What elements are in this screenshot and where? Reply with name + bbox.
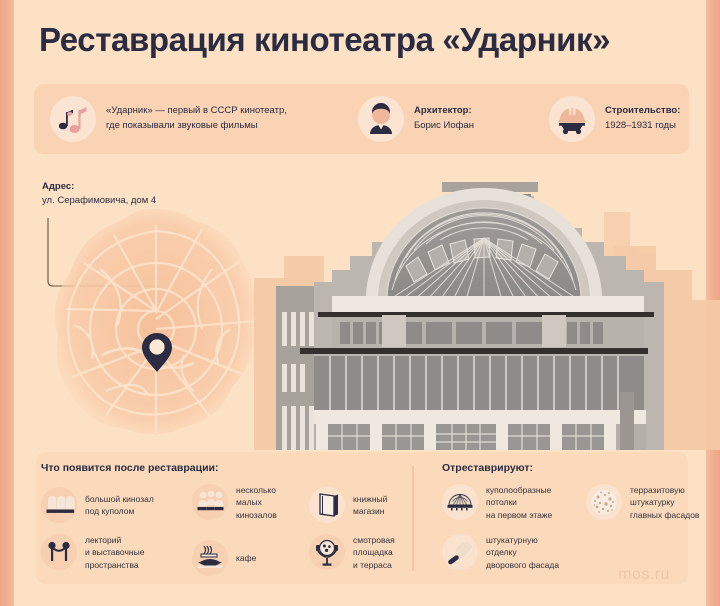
fact-bar: «Ударник» — первый в СССР кинотеатр, где… [34,84,689,154]
section-heading-new-features: Что появится после реставрации: [41,462,219,474]
fact-item-construction: Строительство: 1928–1931 годы [549,95,680,143]
list-item-bookshop: книжный магазин [309,487,387,523]
fact-item-architect: Архитектор: Борис Иофан [358,95,474,143]
terrazzo-icon [586,484,622,520]
udarnik-cinema-illustration [254,160,720,450]
list-item-observation-deck: смотровая площадка и терраса [309,534,395,571]
ground-floor-windows [316,422,616,450]
panel-divider [412,466,414,571]
fact-value-architect: Борис Иофан [414,119,474,134]
fact-label-construction: Строительство: [605,104,680,119]
list-item-label: смотровая площадка и терраса [353,534,395,571]
music-notes-icon [50,96,96,142]
lecture-stand-icon [41,534,77,570]
list-item-terrazzo: терразитовую штукатурку главных фасадов [586,484,699,521]
upper-cornice [332,296,644,314]
fact-text-architect: Архитектор: Борис Иофан [414,104,474,133]
page-title: Реставрация кинотеатра «Ударник» [39,22,689,58]
list-item-label: кафе [236,552,256,564]
list-item-label: лекторий и выставочные пространства [85,534,144,571]
main-cornice [300,348,648,354]
ground-entablature [314,410,646,424]
list-item-label: несколько малых кинозалов [236,484,277,521]
moscow-map [44,205,274,440]
fact-line-1: «Ударник» — первый в СССР кинотеатр, [106,104,287,119]
list-item-dome-ceilings: куполообразные потолки на первом этаже [442,484,552,521]
fact-value-construction: 1928–1931 годы [605,119,680,134]
facade-glazing [314,356,644,410]
list-item-plaster-finish: штукатурную отделку дворового фасада [442,534,559,571]
section-heading-restoration: Отреставрируют: [442,462,533,474]
architect-avatar-icon [358,96,404,142]
list-item-label: большой кинозал под куполом [85,493,154,518]
list-item-lecture-hall: лекторий и выставочные пространства [41,534,144,571]
infographic-poster: Реставрация кинотеатра «Ударник» [0,0,720,606]
list-item-label: штукатурную отделку дворового фасада [486,534,559,571]
small-halls-icon [192,484,228,520]
fact-line-2: где показывали звуковые фильмы [106,119,287,134]
construction-helmet-icon [549,96,595,142]
book-icon [309,487,345,523]
fact-text-cinema: «Ударник» — первый в СССР кинотеатр, где… [106,104,287,133]
dome-ceiling-icon [442,484,478,520]
list-item-small-halls: несколько малых кинозалов [192,484,277,521]
cinema-seats-icon [41,487,77,523]
glass-dome [366,188,602,300]
fact-text-construction: Строительство: 1928–1931 годы [605,104,680,133]
poster-inner: Реставрация кинотеатра «Ударник» [14,0,706,606]
list-item-big-hall: большой кинозал под куполом [41,487,154,523]
site-watermark: mos.ru [618,566,670,584]
trowel-icon [442,534,478,570]
cafe-icon [192,540,228,576]
list-item-cafe: кафе [192,540,256,576]
telescope-icon [309,534,345,570]
list-item-label: куполообразные потолки на первом этаже [486,484,552,521]
list-item-label: терразитовую штукатурку главных фасадов [630,484,699,521]
list-item-label: книжный магазин [353,493,387,518]
address-label: Адрес: [42,180,156,194]
fact-label-architect: Архитектор: [414,104,474,119]
fact-item-cinema: «Ударник» — первый в СССР кинотеатр, где… [50,95,287,143]
